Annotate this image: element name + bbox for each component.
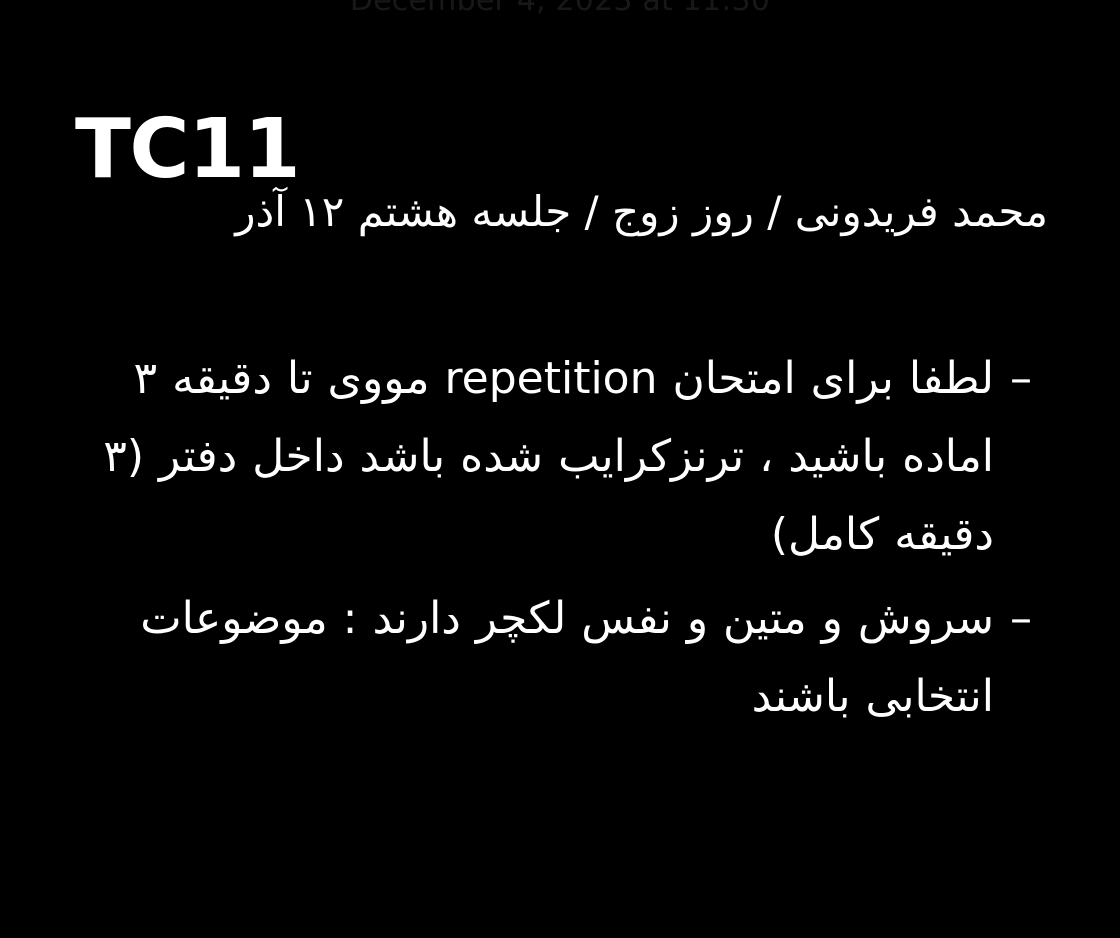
- list-item-text: لطفا برای امتحان repetition مووی تا دقیق…: [72, 340, 994, 574]
- list-item: – سروش و متین و نفس لکچر دارند : موضوعات…: [72, 580, 1048, 736]
- page-title: TC11: [75, 107, 299, 193]
- bullet-list: – لطفا برای امتحان repetition مووی تا دق…: [72, 340, 1048, 742]
- bullet-dash-icon: –: [994, 340, 1048, 418]
- document-date-header: December 4, 2023 at 11:30: [0, 0, 1120, 18]
- document-subtitle: محمد فریدونی / روز زوج / جلسه هشتم ۱۲ آذ…: [158, 184, 1048, 241]
- note-canvas: December 4, 2023 at 11:30 TC11 محمد فرید…: [0, 0, 1120, 938]
- bullet-dash-icon: –: [994, 580, 1048, 658]
- list-item: – لطفا برای امتحان repetition مووی تا دق…: [72, 340, 1048, 574]
- list-item-text: سروش و متین و نفس لکچر دارند : موضوعات ا…: [72, 580, 994, 736]
